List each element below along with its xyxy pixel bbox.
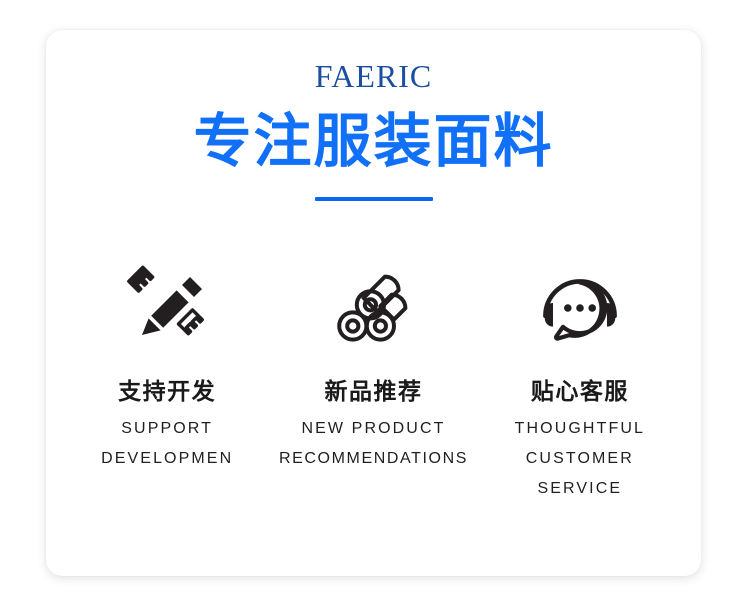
feature-subtitle-line-2: DEVELOPMEN (101, 444, 233, 474)
pencil-ruler-icon (119, 258, 215, 354)
headset-chat-icon (532, 258, 628, 354)
feature-subtitle-line-1: SUPPORT (121, 414, 213, 444)
title-divider (315, 197, 433, 201)
feature-title: 支持开发 (118, 376, 216, 406)
page-title: 专注服装面料 (46, 107, 701, 177)
feature-list: 支持开发 SUPPORT DEVELOPMEN (46, 258, 701, 504)
feature-item-new-product: 新品推荐 NEW PRODUCT RECOMMENDATIONS (270, 258, 476, 474)
feature-subtitle-line-2: RECOMMENDATIONS (279, 444, 468, 474)
feature-title: 新品推荐 (324, 376, 422, 406)
banner-card: FAERIC 专注服装面料 (46, 30, 701, 576)
feature-subtitle-line-3: SERVICE (537, 474, 622, 504)
feature-item-customer-service: 贴心客服 THOUGHTFUL CUSTOMER SERVICE (477, 258, 683, 504)
feature-subtitle-line-1: NEW PRODUCT (302, 414, 446, 444)
banner-stage: FAERIC 专注服装面料 (0, 0, 750, 615)
feature-title: 贴心客服 (531, 376, 629, 406)
feature-item-support-development: 支持开发 SUPPORT DEVELOPMEN (64, 258, 270, 474)
brand-name: FAERIC (46, 57, 701, 95)
fabric-rolls-icon (325, 258, 421, 354)
feature-subtitle-line-2: CUSTOMER (526, 444, 634, 474)
feature-subtitle-line-1: THOUGHTFUL (515, 414, 645, 444)
